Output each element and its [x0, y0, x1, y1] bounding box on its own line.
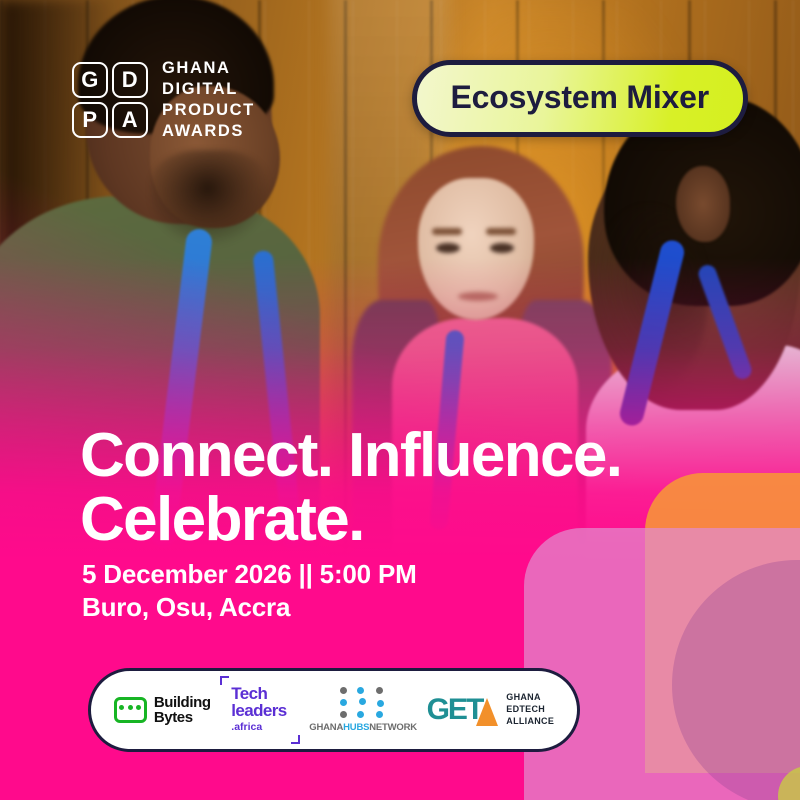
tech-leaders-wordmark: Tech leaders .africa	[231, 685, 286, 733]
tech-leaders-line-2: leaders	[231, 702, 286, 719]
gdpa-word-awards: AWARDS	[162, 121, 255, 141]
geta-line-1: GHANA	[506, 692, 554, 704]
geta-line-3: ALLIANCE	[506, 716, 554, 728]
building-bytes-window-icon	[114, 697, 147, 723]
tech-leaders-line-3: .africa	[231, 722, 286, 733]
event-datetime: 5 December 2026 || 5:00 PM	[82, 558, 417, 591]
lime-corner-shape	[778, 766, 800, 800]
sponsor-bar: Building Bytes Tech leaders .africa	[88, 668, 580, 752]
gdpa-letter-g: G	[72, 62, 108, 98]
geta-line-2: EDTECH	[506, 704, 554, 716]
gdpa-letter-p: P	[72, 102, 108, 138]
building-bytes-line-1: Building	[154, 695, 211, 710]
ghana-hubs-network-wordmark: GHANAHUBSNETWORK	[309, 722, 417, 733]
gdpa-word-ghana: GHANA	[162, 58, 255, 78]
gdpa-logo: G D P A GHANA DIGITAL PRODUCT AWARDS	[72, 58, 255, 142]
lilac-rounded-shape	[524, 528, 800, 800]
sponsor-logo-building-bytes: Building Bytes	[114, 695, 211, 726]
geta-monogram: GET	[427, 695, 499, 726]
geta-letters-get: GET	[427, 695, 483, 725]
ghana-hubs-network-nodes-icon	[340, 687, 386, 719]
ecosystem-mixer-badge: Ecosystem Mixer	[412, 60, 748, 137]
sponsor-logo-ghana-hubs-network: GHANAHUBSNETWORK	[309, 687, 417, 733]
event-details: 5 December 2026 || 5:00 PM Buro, Osu, Ac…	[82, 558, 417, 624]
headline-line-2: Celebrate.	[80, 488, 621, 552]
gdpa-word-digital: DIGITAL	[162, 79, 255, 99]
headline-line-1: Connect. Influence.	[80, 424, 621, 488]
sponsor-logo-tech-leaders: Tech leaders .africa	[220, 676, 299, 744]
gdpa-letter-grid: G D P A	[72, 62, 148, 138]
event-poster: G D P A GHANA DIGITAL PRODUCT AWARDS Eco…	[0, 0, 800, 800]
tech-leaders-corner-top-left-icon	[220, 676, 229, 685]
sponsor-logo-geta: GET GHANA EDTECH ALLIANCE	[427, 692, 555, 728]
mauve-circle-shape	[672, 560, 800, 800]
gdpa-wordmark: GHANA DIGITAL PRODUCT AWARDS	[162, 58, 255, 142]
gdpa-letter-a: A	[112, 102, 148, 138]
poster-headline: Connect. Influence. Celebrate.	[80, 424, 621, 553]
building-bytes-wordmark: Building Bytes	[154, 695, 211, 726]
event-venue: Buro, Osu, Accra	[82, 591, 417, 624]
geta-triangle-a-icon	[476, 698, 498, 726]
geta-wordmark: GHANA EDTECH ALLIANCE	[506, 692, 554, 728]
tech-leaders-corner-bottom-right-icon	[291, 735, 300, 744]
gdpa-word-product: PRODUCT	[162, 100, 255, 120]
ghn-word-hubs: HUBS	[343, 722, 369, 733]
building-bytes-line-2: Bytes	[154, 710, 211, 725]
ghn-word-network: NETWORK	[369, 722, 417, 733]
tech-leaders-line-1: Tech	[231, 685, 286, 702]
gdpa-letter-d: D	[112, 62, 148, 98]
ghn-word-ghana: GHANA	[309, 722, 343, 733]
